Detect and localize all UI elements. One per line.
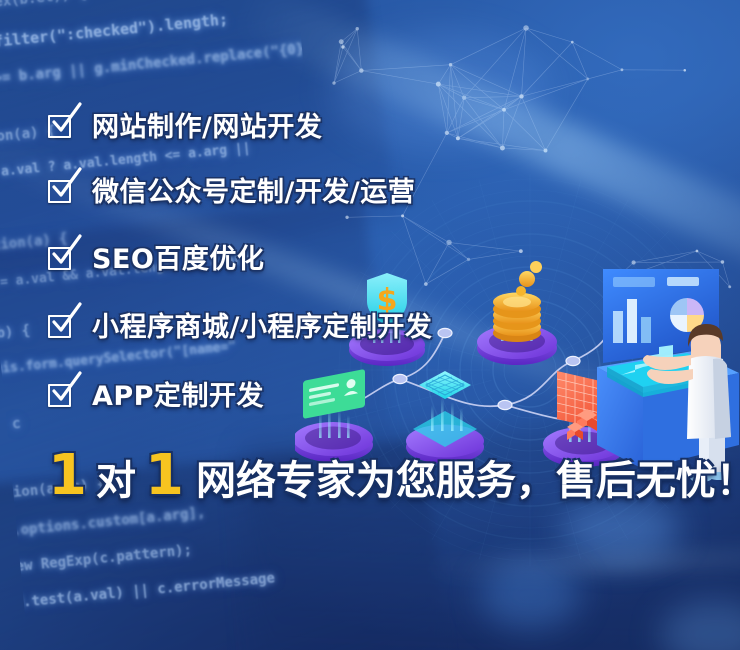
feature-item-0[interactable]: 网站制作/网站开发	[48, 105, 322, 144]
feature-label-0: 网站制作/网站开发	[92, 105, 322, 144]
tagline-number-second: 1	[145, 448, 184, 504]
tagline: 1 对 1 网络专家为您服务，售后无忧！	[48, 448, 740, 504]
banner-content: 网站制作/网站开发 微信公众号定制/开发/运营 SEO百度优化	[0, 0, 740, 650]
checkbox-checked-icon	[48, 244, 74, 270]
checkbox-checked-icon	[48, 312, 74, 338]
feature-item-4[interactable]: APP定制开发	[48, 374, 264, 413]
tagline-number-first: 1	[48, 448, 87, 504]
tagline-middle-word: 对	[96, 461, 136, 501]
checkbox-checked-icon	[48, 381, 74, 407]
feature-label-3: 小程序商城/小程序定制开发	[92, 305, 432, 344]
tagline-rest: 网络专家为您服务，售后无忧！	[196, 461, 740, 501]
feature-label-4: APP定制开发	[92, 374, 264, 413]
checkbox-checked-icon	[48, 177, 74, 203]
feature-item-1[interactable]: 微信公众号定制/开发/运营	[48, 170, 415, 209]
feature-label-1: 微信公众号定制/开发/运营	[92, 170, 415, 209]
promo-banner: querySelectorAll("input[type=checkbox]"d…	[0, 0, 740, 650]
feature-item-2[interactable]: SEO百度优化	[48, 237, 264, 276]
checkbox-checked-icon	[48, 112, 74, 138]
feature-item-3[interactable]: 小程序商城/小程序定制开发	[48, 305, 432, 344]
feature-label-2: SEO百度优化	[92, 237, 264, 276]
